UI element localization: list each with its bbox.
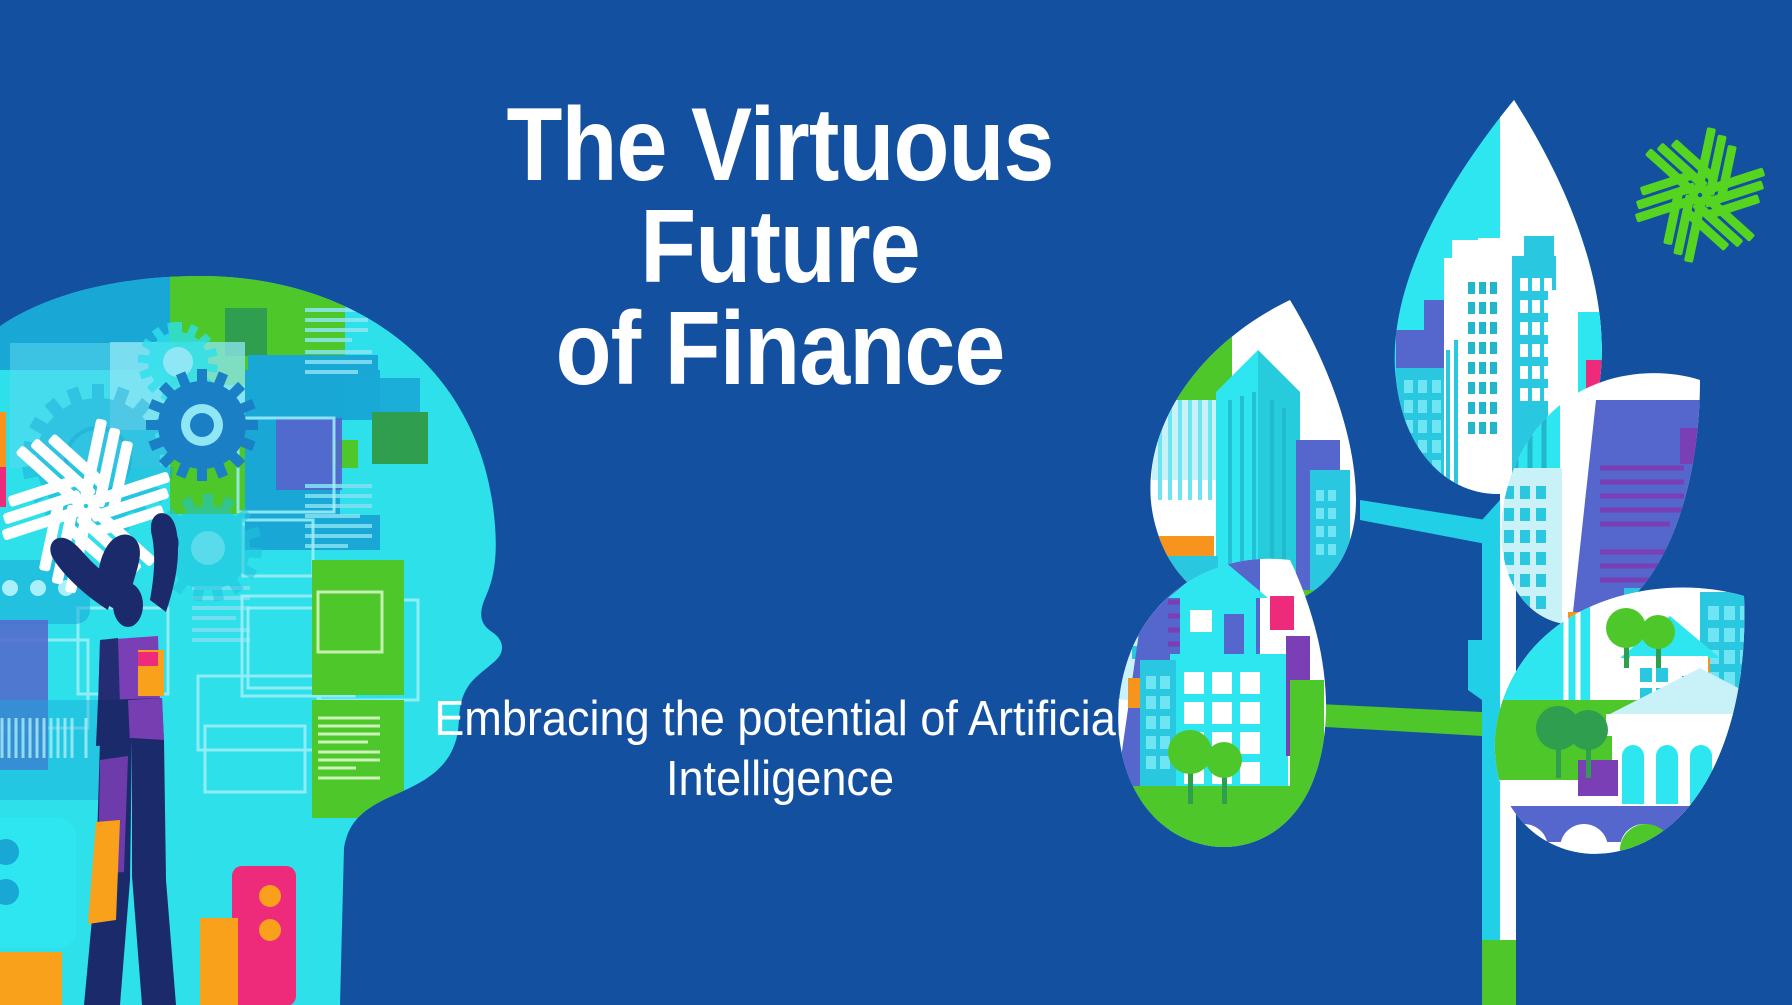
leaf-lower-right: [1480, 580, 1792, 880]
slide-canvas: The Virtuous Future of Finance Embracing…: [0, 0, 1792, 1005]
trunk-base-green: [1482, 940, 1516, 1005]
title-block: The Virtuous Future of Finance: [340, 95, 1220, 401]
leaf-lr-purple: [1578, 760, 1618, 796]
bridge: [1480, 806, 1792, 876]
page-title: The Virtuous Future of Finance: [393, 95, 1167, 401]
page-subtitle: Embracing the potential of Artificial In…: [375, 690, 1185, 810]
leaf-ll-magenta: [1270, 596, 1294, 630]
green-pinwheel-logo: [1635, 125, 1766, 266]
